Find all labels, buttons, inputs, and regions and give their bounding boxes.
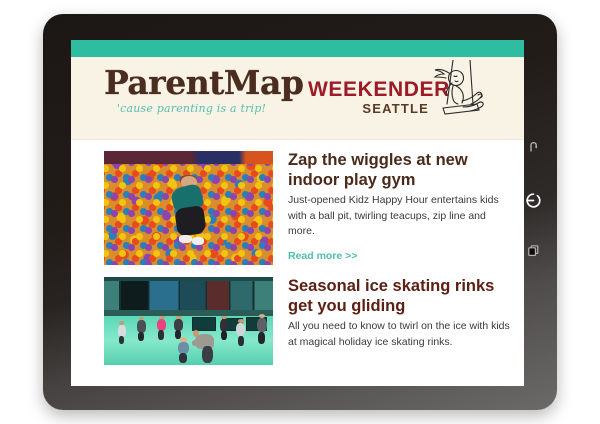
article-thumbnail[interactable] [104,277,273,365]
back-icon[interactable] [521,134,545,158]
skater-figure [118,321,126,344]
article-item[interactable]: Zap the wiggles at new indoor play gym J… [71,151,524,265]
child-shoe-left [179,235,191,243]
rink-wall [104,310,273,315]
read-more-link[interactable]: Read more >> [288,250,357,262]
article-text: Seasonal ice skating rinks get you glidi… [273,277,524,365]
article-description: Just-opened Kidz Happy Hour entertains k… [288,193,512,240]
skater-figure [136,317,146,342]
parentmap-logo[interactable]: ParentMap 'cause parenting is a trip! [104,63,279,116]
power-icon[interactable] [521,188,545,212]
child-figure [177,337,191,363]
ball-pit-wall [104,151,273,164]
device-button-column [519,134,547,262]
article-title[interactable]: Zap the wiggles at new indoor play gym [288,151,512,190]
article-list: Zap the wiggles at new indoor play gym J… [71,140,524,365]
article-thumbnail[interactable] [104,151,273,265]
page-accent-bar [71,40,524,57]
child-on-swing-icon [423,60,485,136]
skater-figure [219,316,229,341]
weekender-title: WEEKENDER [308,78,433,101]
article-item[interactable]: Seasonal ice skating rinks get you glidi… [71,277,524,365]
skater-figure [256,314,268,344]
article-text: Zap the wiggles at new indoor play gym J… [273,151,524,265]
article-description: All you need to know to twirl on the ice… [288,319,512,350]
weekender-edition-logo[interactable]: WEEKENDER SEATTLE [308,78,433,116]
recent-apps-icon[interactable] [521,238,545,262]
logo-tagline: 'cause parenting is a trip! [104,102,279,116]
ball-pit-image [104,151,273,265]
logo-wordmark: ParentMap [104,63,279,103]
weekender-subtitle: SEATTLE [308,101,433,116]
child-shoe-right [192,237,204,245]
adult-figure [192,328,216,363]
ice-rink-image [104,277,273,365]
tablet-device: ParentMap 'cause parenting is a trip! WE… [43,14,557,410]
tablet-screen: ParentMap 'cause parenting is a trip! WE… [71,40,524,386]
child-figure [168,176,219,247]
skater-figure [236,319,246,345]
rink-windows [104,281,273,311]
article-title[interactable]: Seasonal ice skating rinks get you glidi… [288,277,512,316]
site-masthead: ParentMap 'cause parenting is a trip! WE… [71,57,524,140]
child-pants [175,205,208,237]
skater-figure [156,316,166,341]
